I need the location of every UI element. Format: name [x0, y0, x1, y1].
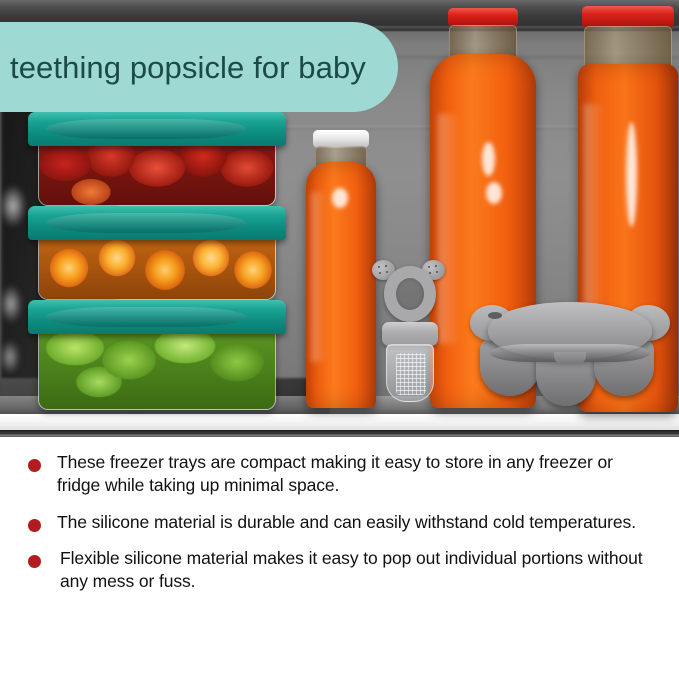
tray-vent-hole — [488, 312, 502, 319]
bullet-text: Flexible silicone material makes it easy… — [57, 547, 649, 594]
product-photo: teething popsicle for baby — [0, 0, 679, 437]
food-green-lettuce — [39, 322, 275, 409]
container-glass-bottom — [38, 322, 276, 410]
fridge-left-highlight-3 — [0, 340, 20, 374]
fridge-left-highlight-1 — [0, 185, 26, 227]
fridge-left-highlight-2 — [0, 285, 22, 323]
bottle-neck-right — [584, 26, 672, 68]
bullet-dot-icon — [28, 459, 41, 472]
feeder-mesh-pouch — [386, 344, 434, 402]
container-lid-middle — [28, 206, 286, 240]
small-juice-bottle — [306, 130, 376, 408]
stacked-glass-containers — [28, 112, 296, 410]
container-lid-top — [28, 112, 286, 146]
bottle-body-small — [306, 162, 376, 408]
lid-inner-groove — [46, 119, 246, 139]
product-feature-image: teething popsicle for baby These freezer… — [0, 0, 679, 679]
banner-pill: teething popsicle for baby — [0, 22, 398, 112]
feature-bullet-list: These freezer trays are compact making i… — [0, 437, 679, 679]
bear-shaped-silicone-freezer-tray — [470, 300, 670, 405]
list-item: Flexible silicone material makes it easy… — [0, 547, 679, 594]
feeder-ring-handle — [384, 266, 436, 322]
tray-lid-tab — [554, 352, 586, 364]
fridge-shelf-edge — [0, 430, 679, 436]
container-lid-bottom — [28, 300, 286, 334]
bullet-text: The silicone material is durable and can… — [57, 511, 636, 534]
lid-inner-groove — [46, 307, 246, 327]
bullet-text: These freezer trays are compact making i… — [57, 451, 649, 498]
lid-inner-groove — [46, 213, 246, 233]
feeder-collar — [382, 322, 438, 346]
silicone-baby-fruit-feeder — [370, 250, 448, 405]
fridge-shelf-rail — [0, 414, 679, 431]
bullet-dot-icon — [28, 555, 41, 568]
banner-title: teething popsicle for baby — [10, 52, 366, 83]
feeder-mesh-texture — [396, 353, 426, 395]
list-item: These freezer trays are compact making i… — [0, 451, 679, 498]
bottle-cap-right — [582, 6, 674, 28]
list-item: The silicone material is durable and can… — [0, 511, 679, 534]
bullet-dot-icon — [28, 519, 41, 532]
